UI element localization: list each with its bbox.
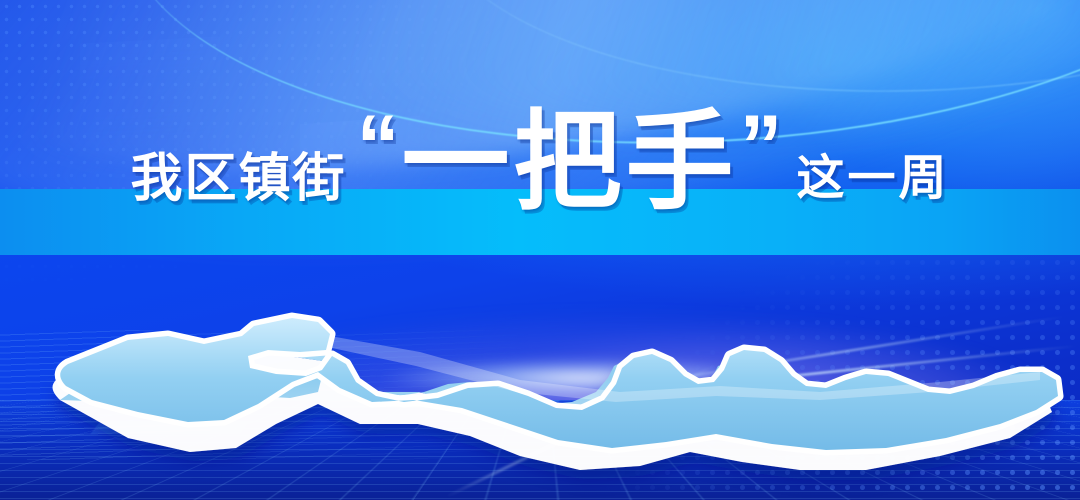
quote-close-mark: ” bbox=[738, 116, 787, 178]
quote-open-mark: “ bbox=[346, 116, 401, 178]
banner-canvas: 我区镇街 “ 一把手 ” 这一周 bbox=[0, 0, 1080, 500]
title-prefix: 我区镇街 bbox=[130, 153, 346, 211]
headline-container: 我区镇街 “ 一把手 ” 这一周 bbox=[0, 0, 1080, 500]
title-suffix: 这一周 bbox=[787, 155, 950, 211]
title-main: 一把手 bbox=[401, 112, 737, 211]
page-title: 我区镇街 “ 一把手 ” 这一周 bbox=[130, 112, 949, 211]
